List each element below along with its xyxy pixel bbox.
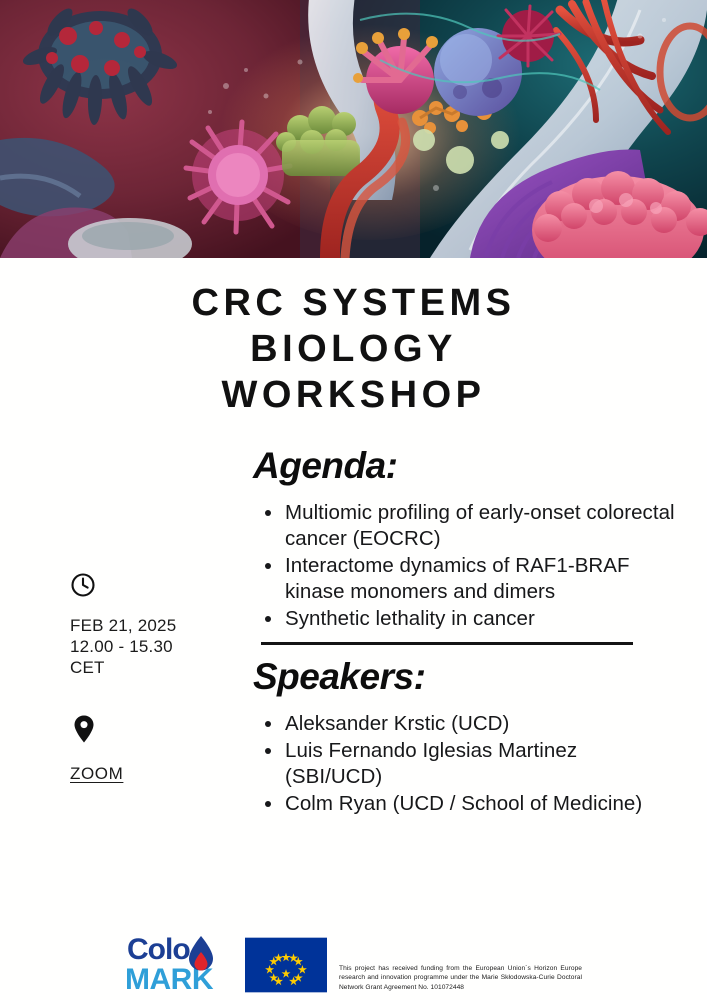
zoom-location-link[interactable]: ZOOM: [70, 763, 123, 784]
event-timezone: CET: [70, 657, 235, 678]
event-date: FEB 21, 2025: [70, 615, 235, 636]
datetime-block: FEB 21, 2025 12.00 - 15.30 CET: [70, 572, 235, 678]
speakers-heading: Speakers:: [253, 655, 677, 699]
body-grid: FEB 21, 2025 12.00 - 15.30 CET ZOOM Agen…: [0, 444, 707, 820]
agenda-heading: Agenda:: [253, 444, 677, 488]
title-line-3: WORKSHOP: [60, 372, 647, 418]
page-title: CRC SYSTEMS BIOLOGY WORKSHOP: [0, 280, 707, 418]
title-line-2: BIOLOGY: [60, 326, 647, 372]
hero-illustration: [0, 0, 707, 258]
section-divider: [261, 642, 633, 645]
speakers-list: Aleksander Krstic (UCD) Luis Fernando Ig…: [261, 711, 677, 817]
agenda-item: Multiomic profiling of early-onset color…: [261, 500, 677, 552]
location-pin-icon: [72, 714, 235, 749]
speaker-item: Luis Fernando Iglesias Martinez (SBI/UCD…: [261, 738, 677, 790]
agenda-item: Interactome dynamics of RAF1-BRAF kinase…: [261, 553, 677, 605]
location-block: ZOOM: [70, 714, 235, 784]
event-details-column: FEB 21, 2025 12.00 - 15.30 CET ZOOM: [10, 444, 235, 820]
colomark-logo: Colo MARK: [125, 928, 233, 994]
speaker-item: Colm Ryan (UCD / School of Medicine): [261, 791, 677, 817]
content-column: Agenda: Multiomic profiling of early-ons…: [235, 444, 707, 820]
agenda-item: Synthetic lethality in cancer: [261, 606, 677, 632]
event-time: 12.00 - 15.30: [70, 636, 235, 657]
svg-text:Colo: Colo: [127, 933, 190, 966]
eu-flag: [245, 936, 327, 994]
clock-icon: [70, 572, 235, 603]
hero-artwork: [0, 0, 707, 258]
footer: Colo MARK: [0, 928, 707, 998]
eu-funding-text: This project has received funding from t…: [339, 964, 582, 994]
poster-root: CRC SYSTEMS BIOLOGY WORKSHOP FEB 21, 202…: [0, 0, 707, 1000]
speaker-item: Aleksander Krstic (UCD): [261, 711, 677, 737]
agenda-list: Multiomic profiling of early-onset color…: [261, 500, 677, 632]
title-line-1: CRC SYSTEMS: [60, 280, 647, 326]
